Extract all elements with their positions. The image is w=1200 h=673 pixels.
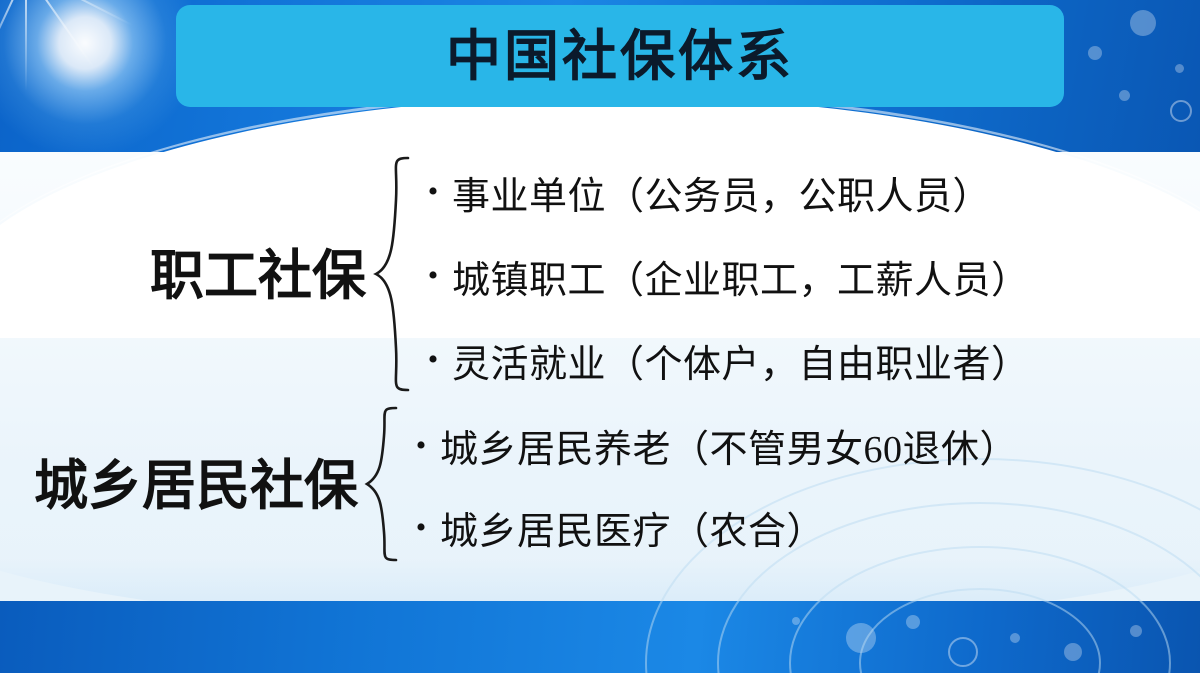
- group-label-resident: 城乡居民社保: [34, 458, 358, 515]
- list-item: • 事业单位（公务员，公职人员）: [414, 150, 1030, 234]
- list-item-label: 城镇职工（企业职工，工薪人员）: [452, 249, 1030, 304]
- brace-resident: [362, 404, 402, 569]
- group-label-employee: 职工社保: [150, 248, 366, 305]
- list-item: • 城乡居民养老（不管男女60退休）: [402, 405, 1018, 487]
- list-item-label: 城乡居民医疗（农合）: [440, 500, 825, 555]
- list-item-label: 灵活就业（个体户，自由职业者）: [452, 333, 1030, 388]
- brace-employee: [370, 154, 414, 399]
- bullet-icon: •: [414, 177, 452, 207]
- group-items-employee: • 事业单位（公务员，公职人员） • 城镇职工（企业职工，工薪人员） • 灵活就…: [414, 150, 1030, 402]
- bullet-icon: •: [402, 431, 440, 461]
- list-item: • 城镇职工（企业职工，工薪人员）: [414, 234, 1030, 318]
- slide-title-bar: 中国社保体系: [176, 5, 1064, 107]
- diagram-group-resident: 城乡居民社保 • 城乡居民养老（不管男女60退休） • 城乡居民医疗（农合）: [34, 404, 1018, 569]
- group-items-resident: • 城乡居民养老（不管男女60退休） • 城乡居民医疗（农合）: [402, 405, 1018, 569]
- bullet-icon: •: [414, 261, 452, 291]
- diagram-group-employee: 职工社保 • 事业单位（公务员，公职人员） • 城镇职工（企业职工，工薪人员） …: [150, 150, 1030, 402]
- page-title: 中国社保体系: [446, 29, 794, 84]
- bullet-icon: •: [414, 345, 452, 375]
- bullet-icon: •: [402, 513, 440, 543]
- list-item-label: 城乡居民养老（不管男女60退休）: [440, 418, 1018, 473]
- list-item: • 城乡居民医疗（农合）: [402, 487, 1018, 569]
- list-item: • 灵活就业（个体户，自由职业者）: [414, 318, 1030, 402]
- slide-canvas: 中国社保体系 职工社保 • 事业单位（公务员，公职人员） • 城镇职工（企业职工…: [0, 0, 1200, 673]
- list-item-label: 事业单位（公务员，公职人员）: [452, 165, 991, 220]
